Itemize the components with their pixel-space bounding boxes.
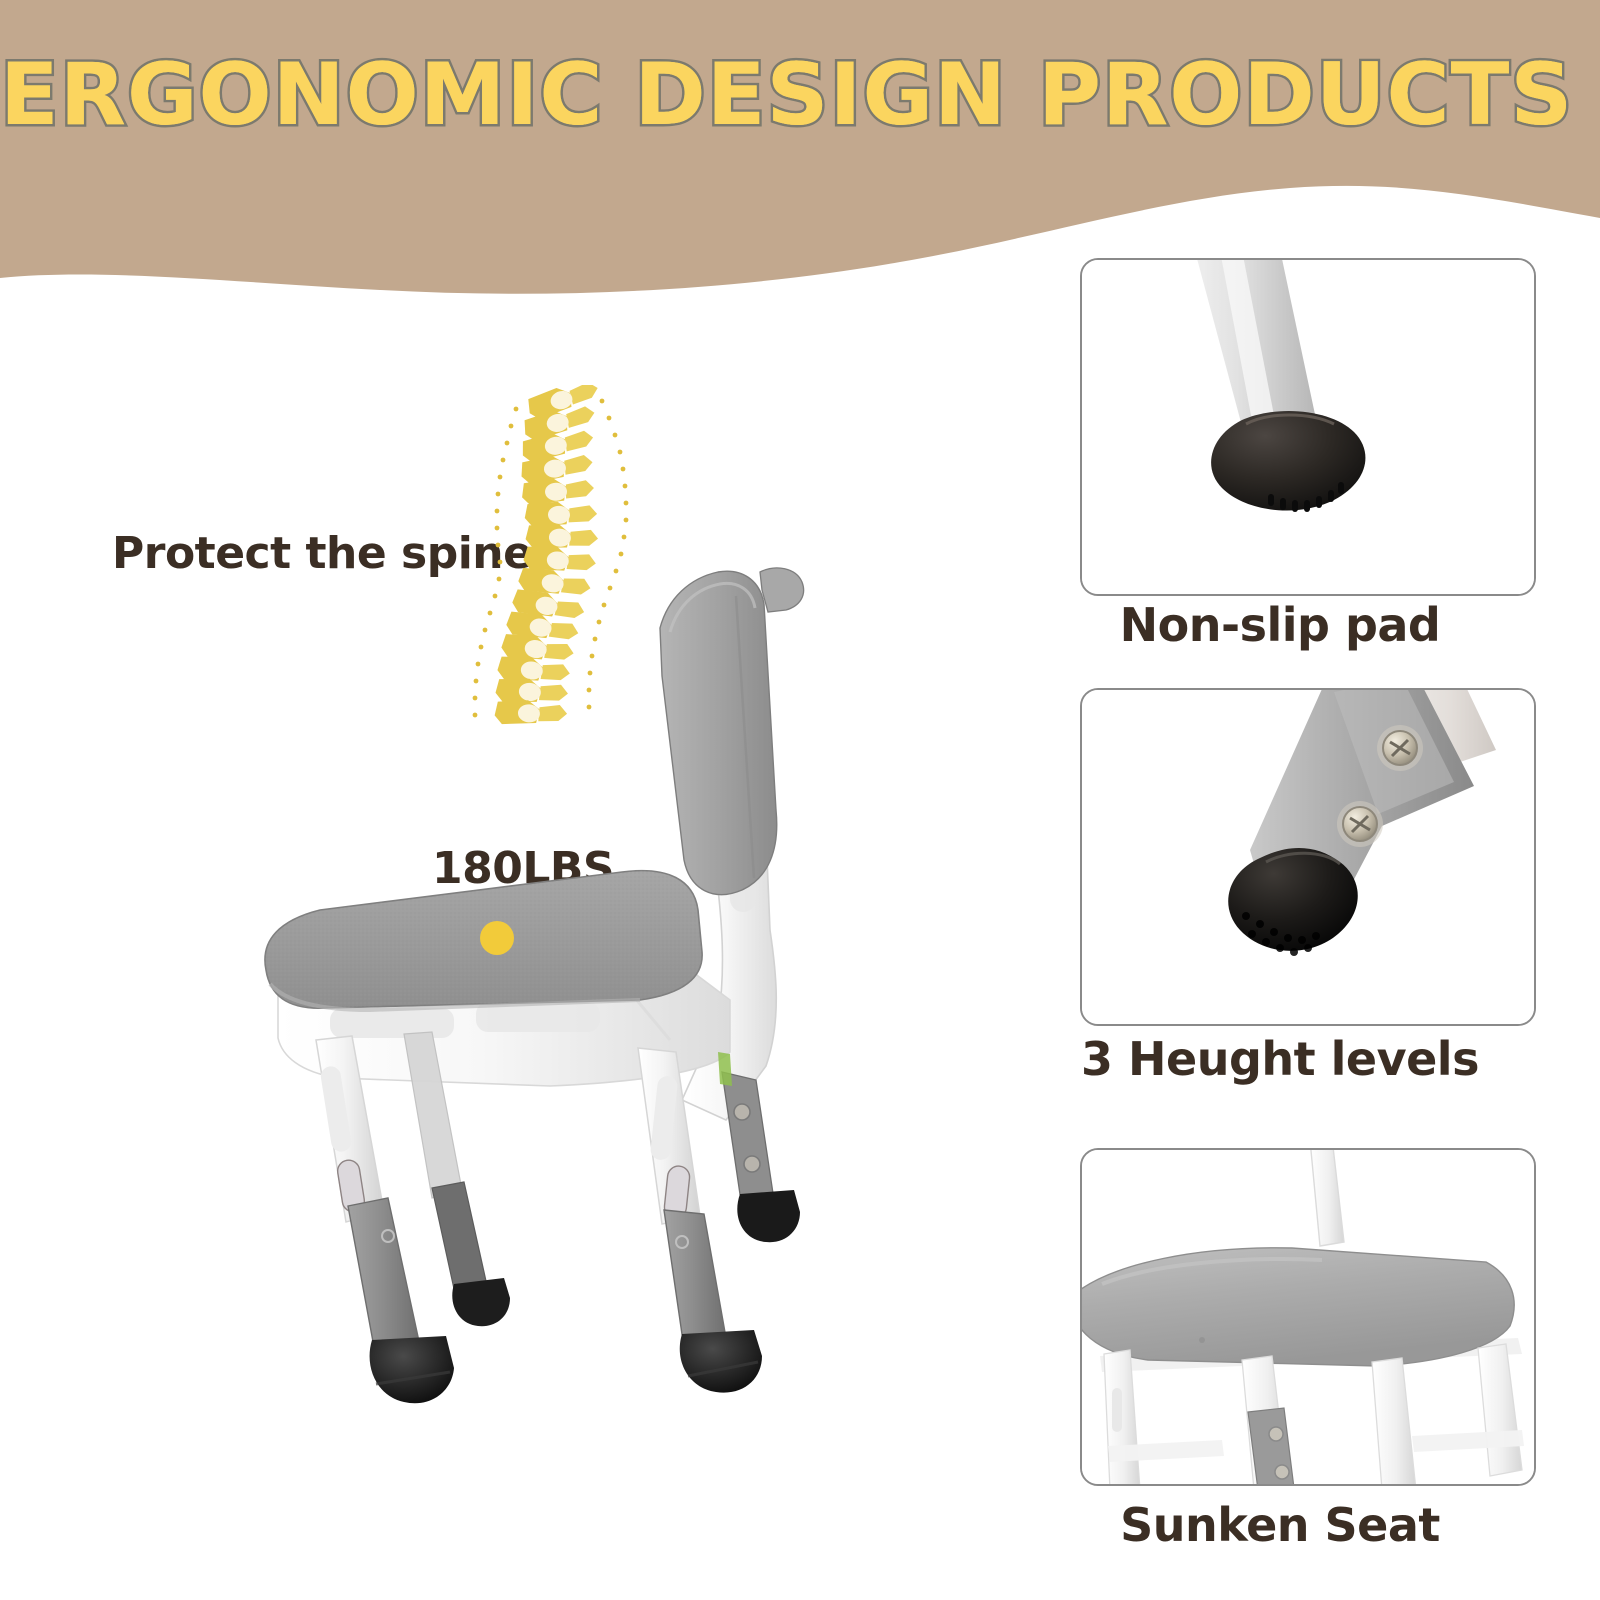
feature-label-non-slip-pad: Non-slip pad (1020, 598, 1540, 652)
screw-icon (1337, 801, 1383, 847)
feature-panel-non-slip-pad[interactable] (1080, 258, 1536, 596)
chair-leg-with-rubber-cap-icon (1082, 260, 1534, 594)
feature-panel-height-levels[interactable] (1080, 688, 1536, 1026)
kids-chair-illustration (170, 500, 910, 1460)
adjustable-leg-with-screws-icon (1082, 690, 1534, 1024)
sunken-seat-closeup-icon (1082, 1150, 1534, 1484)
feature-panel-sunken-seat[interactable] (1080, 1148, 1536, 1486)
screw-icon (1377, 725, 1423, 771)
feature-label-height-levels: 3 Heught levels (1020, 1032, 1540, 1086)
header-banner: ERGONOMIC DESIGN PRODUCTS KIDS ERGONOMIC… (0, 0, 1600, 300)
seat-marker-dot (480, 921, 514, 955)
feature-label-sunken-seat: Sunken Seat (1020, 1498, 1540, 1552)
page-title-fill: ERGONOMIC DESIGN PRODUCTS KIDS (0, 52, 1600, 138)
